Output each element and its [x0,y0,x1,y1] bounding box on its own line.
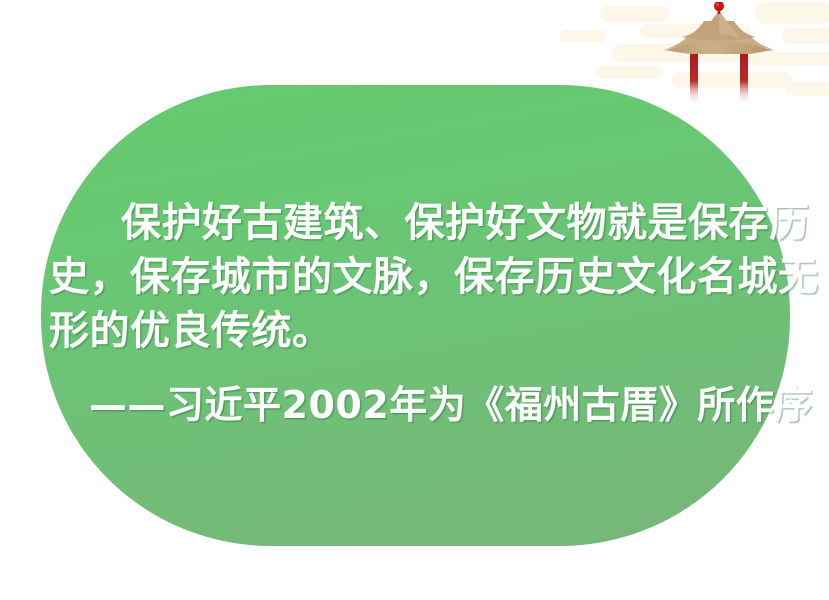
cloud-shape [596,66,662,79]
cloud-shape [786,82,829,96]
quote-line-2: 史，保存城市的文脉，保存历史文化名城无 [49,250,782,304]
quote-attribution: ——习近平2002年为《福州古厝》所作序 [49,378,782,432]
slide-canvas: 保护好古建筑、保护好文物就是保存历 史，保存城市的文脉，保存历史文化名城无 形的… [0,0,829,600]
quote-text-block: 保护好古建筑、保护好文物就是保存历 史，保存城市的文脉，保存历史文化名城无 形的… [41,196,790,432]
cloud-shape [560,30,606,42]
quote-line-1: 保护好古建筑、保护好文物就是保存历 [49,196,782,250]
quote-line-3: 形的优良传统。 [49,304,782,358]
pagoda-icon [660,2,778,106]
cloud-shape [782,28,829,44]
